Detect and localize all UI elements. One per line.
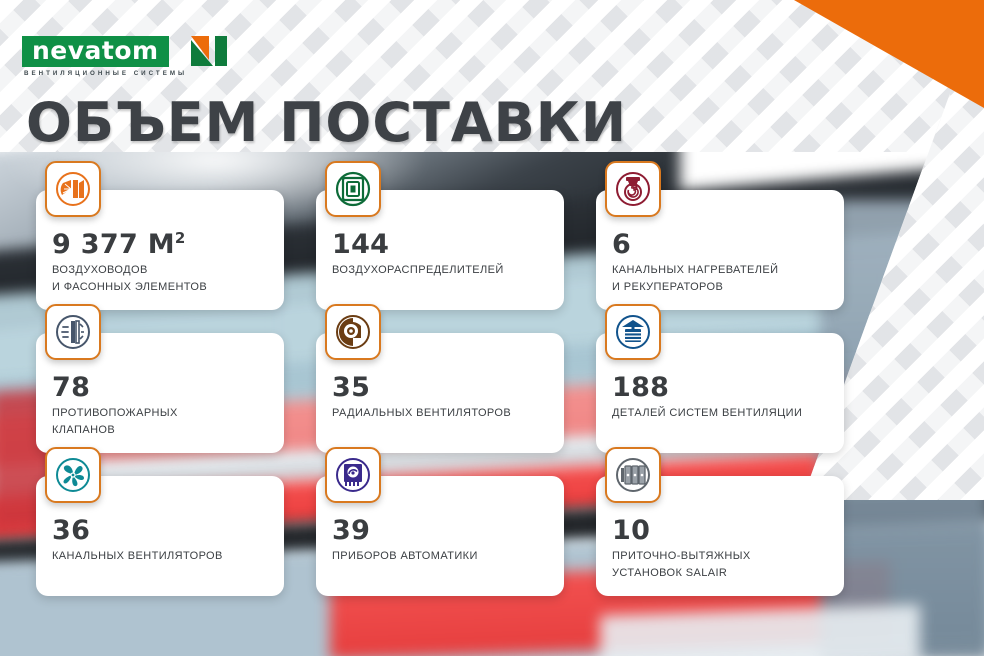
- stat-value: 36: [52, 516, 268, 546]
- stat-value: 144: [332, 230, 548, 260]
- stats-grid: 9 377 М2 ВОЗДУХОВОДОВ И ФАСОННЫХ ЭЛЕМЕНТ…: [36, 190, 948, 596]
- stat-value: 188: [612, 373, 828, 403]
- duct-heater-icon: [605, 161, 661, 217]
- stat-card: 144 ВОЗДУХОРАСПРЕДЕЛИТЕЛЕЙ: [316, 190, 564, 310]
- brand-logo: nevatom ВЕНТИЛЯЦИОННЫЕ СИСТЕМЫ: [22, 36, 231, 77]
- stat-label-line: ДЕТАЛЕЙ СИСТЕМ ВЕНТИЛЯЦИИ: [612, 405, 828, 422]
- stat-label-line: КАНАЛЬНЫХ ВЕНТИЛЯТОРОВ: [52, 548, 268, 565]
- duct-fan-icon: [45, 447, 101, 503]
- stat-label: ВОЗДУХОРАСПРЕДЕЛИТЕЛЕЙ: [332, 262, 548, 279]
- stat-card: 78 ПРОТИВОПОЖАРНЫХ КЛАПАНОВ: [36, 333, 284, 453]
- centrifugal-fan-icon: [325, 304, 381, 360]
- stat-label-line: РАДИАЛЬНЫХ ВЕНТИЛЯТОРОВ: [332, 405, 548, 422]
- stat-label: КАНАЛЬНЫХ ВЕНТИЛЯТОРОВ: [52, 548, 268, 565]
- logo-wordmark: nevatom: [32, 36, 159, 65]
- stat-label: ПРИТОЧНО-ВЫТЯЖНЫХ УСТАНОВОК SALAIR: [612, 548, 828, 582]
- stat-label-line: ВОЗДУХОВОДОВ: [52, 262, 268, 279]
- stat-label: ПРОТИВОПОЖАРНЫХ КЛАПАНОВ: [52, 405, 268, 439]
- stat-card: 36 КАНАЛЬНЫХ ВЕНТИЛЯТОРОВ: [36, 476, 284, 596]
- stat-label: ПРИБОРОВ АВТОМАТИКИ: [332, 548, 548, 565]
- stat-label-line: И РЕКУПЕРАТОРОВ: [612, 279, 828, 296]
- stat-value: 35: [332, 373, 548, 403]
- stat-card: 6 КАНАЛЬНЫХ НАГРЕВАТЕЛЕЙ И РЕКУПЕРАТОРОВ: [596, 190, 844, 310]
- logo-green-bar: nevatom: [22, 36, 169, 67]
- stat-value: 78: [52, 373, 268, 403]
- stat-label: ДЕТАЛЕЙ СИСТЕМ ВЕНТИЛЯЦИИ: [612, 405, 828, 422]
- poster-root: nevatom ВЕНТИЛЯЦИОННЫЕ СИСТЕМЫ ОБЪЕМ ПОС…: [0, 0, 984, 656]
- roof-vent-icon: [605, 304, 661, 360]
- stat-label-line: КАНАЛЬНЫХ НАГРЕВАТЕЛЕЙ: [612, 262, 828, 279]
- stat-label-line: УСТАНОВОК SALAIR: [612, 565, 828, 582]
- fire-damper-icon: [45, 304, 101, 360]
- logo-tagline: ВЕНТИЛЯЦИОННЫЕ СИСТЕМЫ: [22, 70, 187, 77]
- stat-label-line: И ФАСОННЫХ ЭЛЕМЕНТОВ: [52, 279, 268, 296]
- page-title: ОБЪЕМ ПОСТАВКИ: [26, 94, 627, 152]
- logo-n-mark-icon: [191, 36, 231, 74]
- air-diffuser-icon: [325, 161, 381, 217]
- stat-card: 9 377 М2 ВОЗДУХОВОДОВ И ФАСОННЫХ ЭЛЕМЕНТ…: [36, 190, 284, 310]
- stat-label: ВОЗДУХОВОДОВ И ФАСОННЫХ ЭЛЕМЕНТОВ: [52, 262, 268, 296]
- stat-label-line: ПРИТОЧНО-ВЫТЯЖНЫХ: [612, 548, 828, 565]
- automation-device-icon: [325, 447, 381, 503]
- stat-label-line: ПРИБОРОВ АВТОМАТИКИ: [332, 548, 548, 565]
- stat-value: 9 377 М2: [52, 230, 268, 260]
- stat-card: 188 ДЕТАЛЕЙ СИСТЕМ ВЕНТИЛЯЦИИ: [596, 333, 844, 453]
- stat-value: 6: [612, 230, 828, 260]
- stat-label-line: ПРОТИВОПОЖАРНЫХ: [52, 405, 268, 422]
- air-duct-icon: [45, 161, 101, 217]
- stat-label: КАНАЛЬНЫХ НАГРЕВАТЕЛЕЙ И РЕКУПЕРАТОРОВ: [612, 262, 828, 296]
- stat-label: РАДИАЛЬНЫХ ВЕНТИЛЯТОРОВ: [332, 405, 548, 422]
- stat-card: 35 РАДИАЛЬНЫХ ВЕНТИЛЯТОРОВ: [316, 333, 564, 453]
- air-handling-unit-icon: [605, 447, 661, 503]
- stat-card: 10 ПРИТОЧНО-ВЫТЯЖНЫХ УСТАНОВОК SALAIR: [596, 476, 844, 596]
- stat-label-line: КЛАПАНОВ: [52, 422, 268, 439]
- stat-value: 39: [332, 516, 548, 546]
- stat-value: 10: [612, 516, 828, 546]
- stat-label-line: ВОЗДУХОРАСПРЕДЕЛИТЕЛЕЙ: [332, 262, 548, 279]
- stat-card: 39 ПРИБОРОВ АВТОМАТИКИ: [316, 476, 564, 596]
